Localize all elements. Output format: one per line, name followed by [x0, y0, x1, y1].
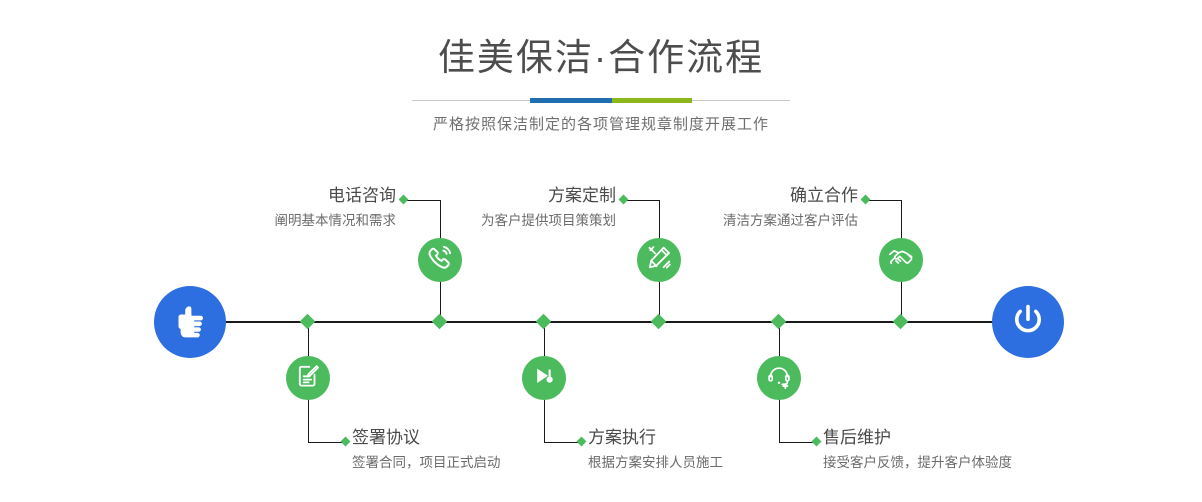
- axis-marker-6: [771, 314, 787, 330]
- timeline: 电话咨询 阐明基本情况和需求 签署协议 签署合同，项目正式启动: [0, 0, 1202, 502]
- step-title-5: 确立合作: [598, 185, 858, 207]
- step-title-3: 方案定制: [356, 185, 616, 207]
- step-desc-6: 接受客户反馈，提升客户体验度: [823, 453, 1123, 473]
- step-icon-2: [286, 356, 330, 400]
- step-label-3: 方案定制 为客户提供项目策策划: [356, 185, 616, 231]
- cooperation-process-infographic: 佳美保洁·合作流程 严格按照保洁制定的各项管理规章制度开展工作: [0, 0, 1202, 502]
- step-desc-5: 清洁方案通过客户评估: [598, 211, 858, 231]
- phone-call-icon: [426, 244, 454, 277]
- step-connector-horizontal-5: [866, 200, 902, 201]
- document-edit-icon: [295, 363, 321, 394]
- power-icon: [1007, 299, 1049, 346]
- step-icon-3: [637, 238, 681, 282]
- step-icon-4: [522, 356, 566, 400]
- axis-marker-3: [651, 314, 667, 330]
- pencil-ruler-icon: [646, 244, 673, 276]
- customer-service-add-icon: [766, 363, 792, 394]
- step-icon-6: [757, 356, 801, 400]
- timeline-end-node: [992, 286, 1064, 358]
- step-icon-1: [418, 238, 462, 282]
- step-label-6: 售后维护 接受客户反馈，提升客户体验度: [823, 427, 1123, 473]
- step-label-5: 确立合作 清洁方案通过客户评估: [598, 185, 858, 231]
- step-title-6: 售后维护: [823, 427, 1123, 449]
- axis-marker-2: [300, 314, 316, 330]
- timeline-start-node: [154, 286, 226, 358]
- axis-marker-1: [432, 314, 448, 330]
- step-icon-5: [879, 238, 923, 282]
- hand-point-right-icon: [170, 300, 210, 345]
- axis-marker-4: [536, 314, 552, 330]
- axis-marker-5: [893, 314, 909, 330]
- step-connector-horizontal-2: [308, 442, 345, 443]
- step-label-marker-2: [341, 437, 351, 447]
- play-execute-icon: [531, 363, 557, 394]
- step-desc-3: 为客户提供项目策策划: [356, 211, 616, 231]
- step-label-marker-5: [861, 195, 871, 205]
- handshake-icon: [887, 244, 915, 277]
